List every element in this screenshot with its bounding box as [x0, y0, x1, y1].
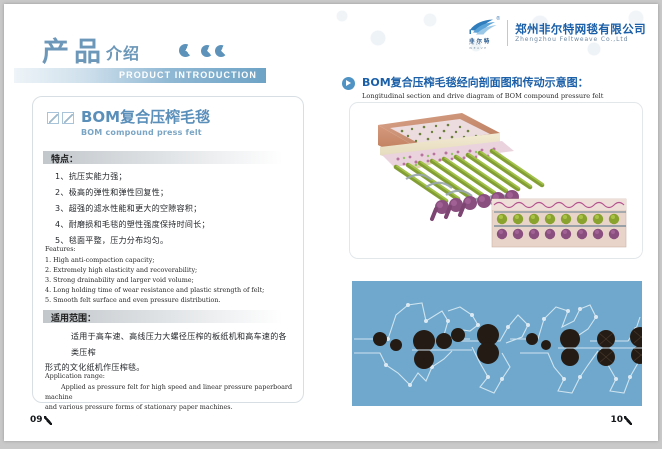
product-badge-icons — [47, 109, 74, 124]
product-heading: BOM复合压榨毛毯 BOM compound press felt — [47, 109, 210, 137]
list-item: 3. Strong drainability and larger void v… — [45, 276, 264, 286]
application-text-cn: 适用于高车速、高线压力大螺径压榨的板纸机和高车速的各类压榨 形式的文化纸机作压榨… — [45, 329, 293, 376]
square-slash-icon — [62, 112, 74, 124]
company-name-block: 郑州非尔特网毯有限公司 Zhengzhou Feltweave Co.,Ltd — [515, 23, 646, 43]
page-number-left-value: 09 — [30, 415, 43, 425]
features-heading-cn: 特点： — [51, 152, 78, 165]
right-page-header: 非尔特 FELT WEAVE ® 郑州非尔特网毯有限公司 Zhengzhou F… — [326, 4, 658, 60]
product-name-cn: BOM复合压榨毛毯 — [81, 109, 210, 126]
application-text-en-line2: and various pressure forms of stationary… — [45, 403, 297, 413]
product-name-en: BOM compound press felt — [81, 128, 210, 137]
page-title: 产品介绍 — [42, 30, 140, 69]
list-item: 2. Extremely high elasticity and recover… — [45, 266, 264, 276]
section-title-en: Longitudinal section and drive diagram o… — [362, 92, 603, 100]
feather-bird-icon — [468, 17, 498, 36]
section-heading: BOM复合压榨毛毯经向剖面图和传动示意图： Longitudinal secti… — [342, 76, 603, 100]
application-heading-en: Application range: — [45, 372, 297, 382]
logo-divider — [507, 20, 508, 46]
features-list-cn: 1、抗压实能力强； 2、极高的弹性和弹性回复性； 3、超强的滤水性能和更大的空隙… — [55, 173, 210, 253]
features-heading-bar: 特点： — [43, 151, 283, 164]
crescent-c-icon — [215, 45, 227, 57]
company-logo-mark: 非尔特 FELT WEAVE ® — [466, 16, 500, 50]
registered-mark-icon: ® — [496, 16, 500, 22]
page-title-cn-small: 介绍 — [106, 40, 140, 64]
application-text-en: Application range: Applied as pressure f… — [45, 372, 297, 413]
felt-3d-svg — [350, 103, 642, 258]
page-title-cn: 产品 — [42, 30, 106, 69]
product-card: BOM复合压榨毛毯 BOM compound press felt 特点： 1、… — [32, 96, 304, 403]
square-slash-icon — [47, 112, 59, 124]
features-heading-en: Features: — [45, 245, 264, 255]
company-logo-block: 非尔特 FELT WEAVE ® 郑州非尔特网毯有限公司 Zhengzhou F… — [466, 16, 646, 50]
page-slash-icon — [624, 416, 632, 425]
felt-cross-section-3d-illustration — [349, 102, 643, 259]
page-slash-icon — [44, 416, 52, 425]
right-page: 非尔特 FELT WEAVE ® 郑州非尔特网毯有限公司 Zhengzhou F… — [326, 4, 658, 441]
list-item: 5、毯面平整，压力分布均匀。 — [55, 237, 210, 245]
catalog-spread: 产品介绍 PRODUCT INTRODUCTION BOM复合压榨毛毯 — [4, 4, 658, 441]
list-item: 2、极高的弹性和弹性回复性； — [55, 189, 210, 197]
press-section-drive-schematic — [352, 281, 642, 406]
screenshot-root: 产品介绍 PRODUCT INTRODUCTION BOM复合压榨毛毯 — [0, 0, 662, 449]
application-heading-cn: 适用范围： — [51, 311, 96, 324]
company-name-cn: 郑州非尔特网毯有限公司 — [515, 23, 646, 36]
crescent-c-icon — [201, 45, 213, 57]
press-schematic-svg — [352, 281, 642, 406]
crescent-group-double — [201, 45, 227, 57]
decorative-crescents — [179, 44, 227, 57]
left-page: 产品介绍 PRODUCT INTRODUCTION BOM复合压榨毛毯 — [4, 4, 326, 441]
play-circle-icon — [342, 77, 355, 90]
page-number-right: 10 — [610, 415, 632, 425]
logo-brand-en: FELT WEAVE — [469, 42, 500, 50]
list-item: 5. Smooth felt surface and even pressure… — [45, 296, 264, 306]
page-number-right-value: 10 — [610, 415, 623, 425]
list-item: 1、抗压实能力强； — [55, 173, 210, 181]
list-item: 3、超强的滤水性能和更大的空隙容积； — [55, 205, 210, 213]
application-text-en-line1: Applied as pressure felt for high speed … — [45, 383, 297, 403]
product-introduction-bar: PRODUCT INTRODUCTION — [14, 68, 266, 83]
crescent-c-icon — [179, 44, 192, 57]
page-number-left: 09 — [30, 415, 52, 425]
list-item: 4、耐磨损和毛毯的塑性强度保持时间长； — [55, 221, 210, 229]
section-title-cn: BOM复合压榨毛毯经向剖面图和传动示意图： — [362, 76, 603, 89]
features-list-en: Features: 1. High anti-compaction capaci… — [45, 245, 264, 306]
company-name-en: Zhengzhou Feltweave Co.,Ltd — [515, 36, 646, 43]
application-heading-bar: 适用范围： — [43, 310, 283, 323]
crescent-group-single — [179, 44, 192, 57]
list-item: 4. Long holding time of wear resistance … — [45, 286, 264, 296]
product-introduction-label: PRODUCT INTRODUCTION — [119, 70, 257, 80]
application-text-cn-line1: 适用于高车速、高线压力大螺径压榨的板纸机和高车速的各类压榨 — [45, 329, 293, 360]
list-item: 1. High anti-compaction capacity; — [45, 256, 264, 266]
